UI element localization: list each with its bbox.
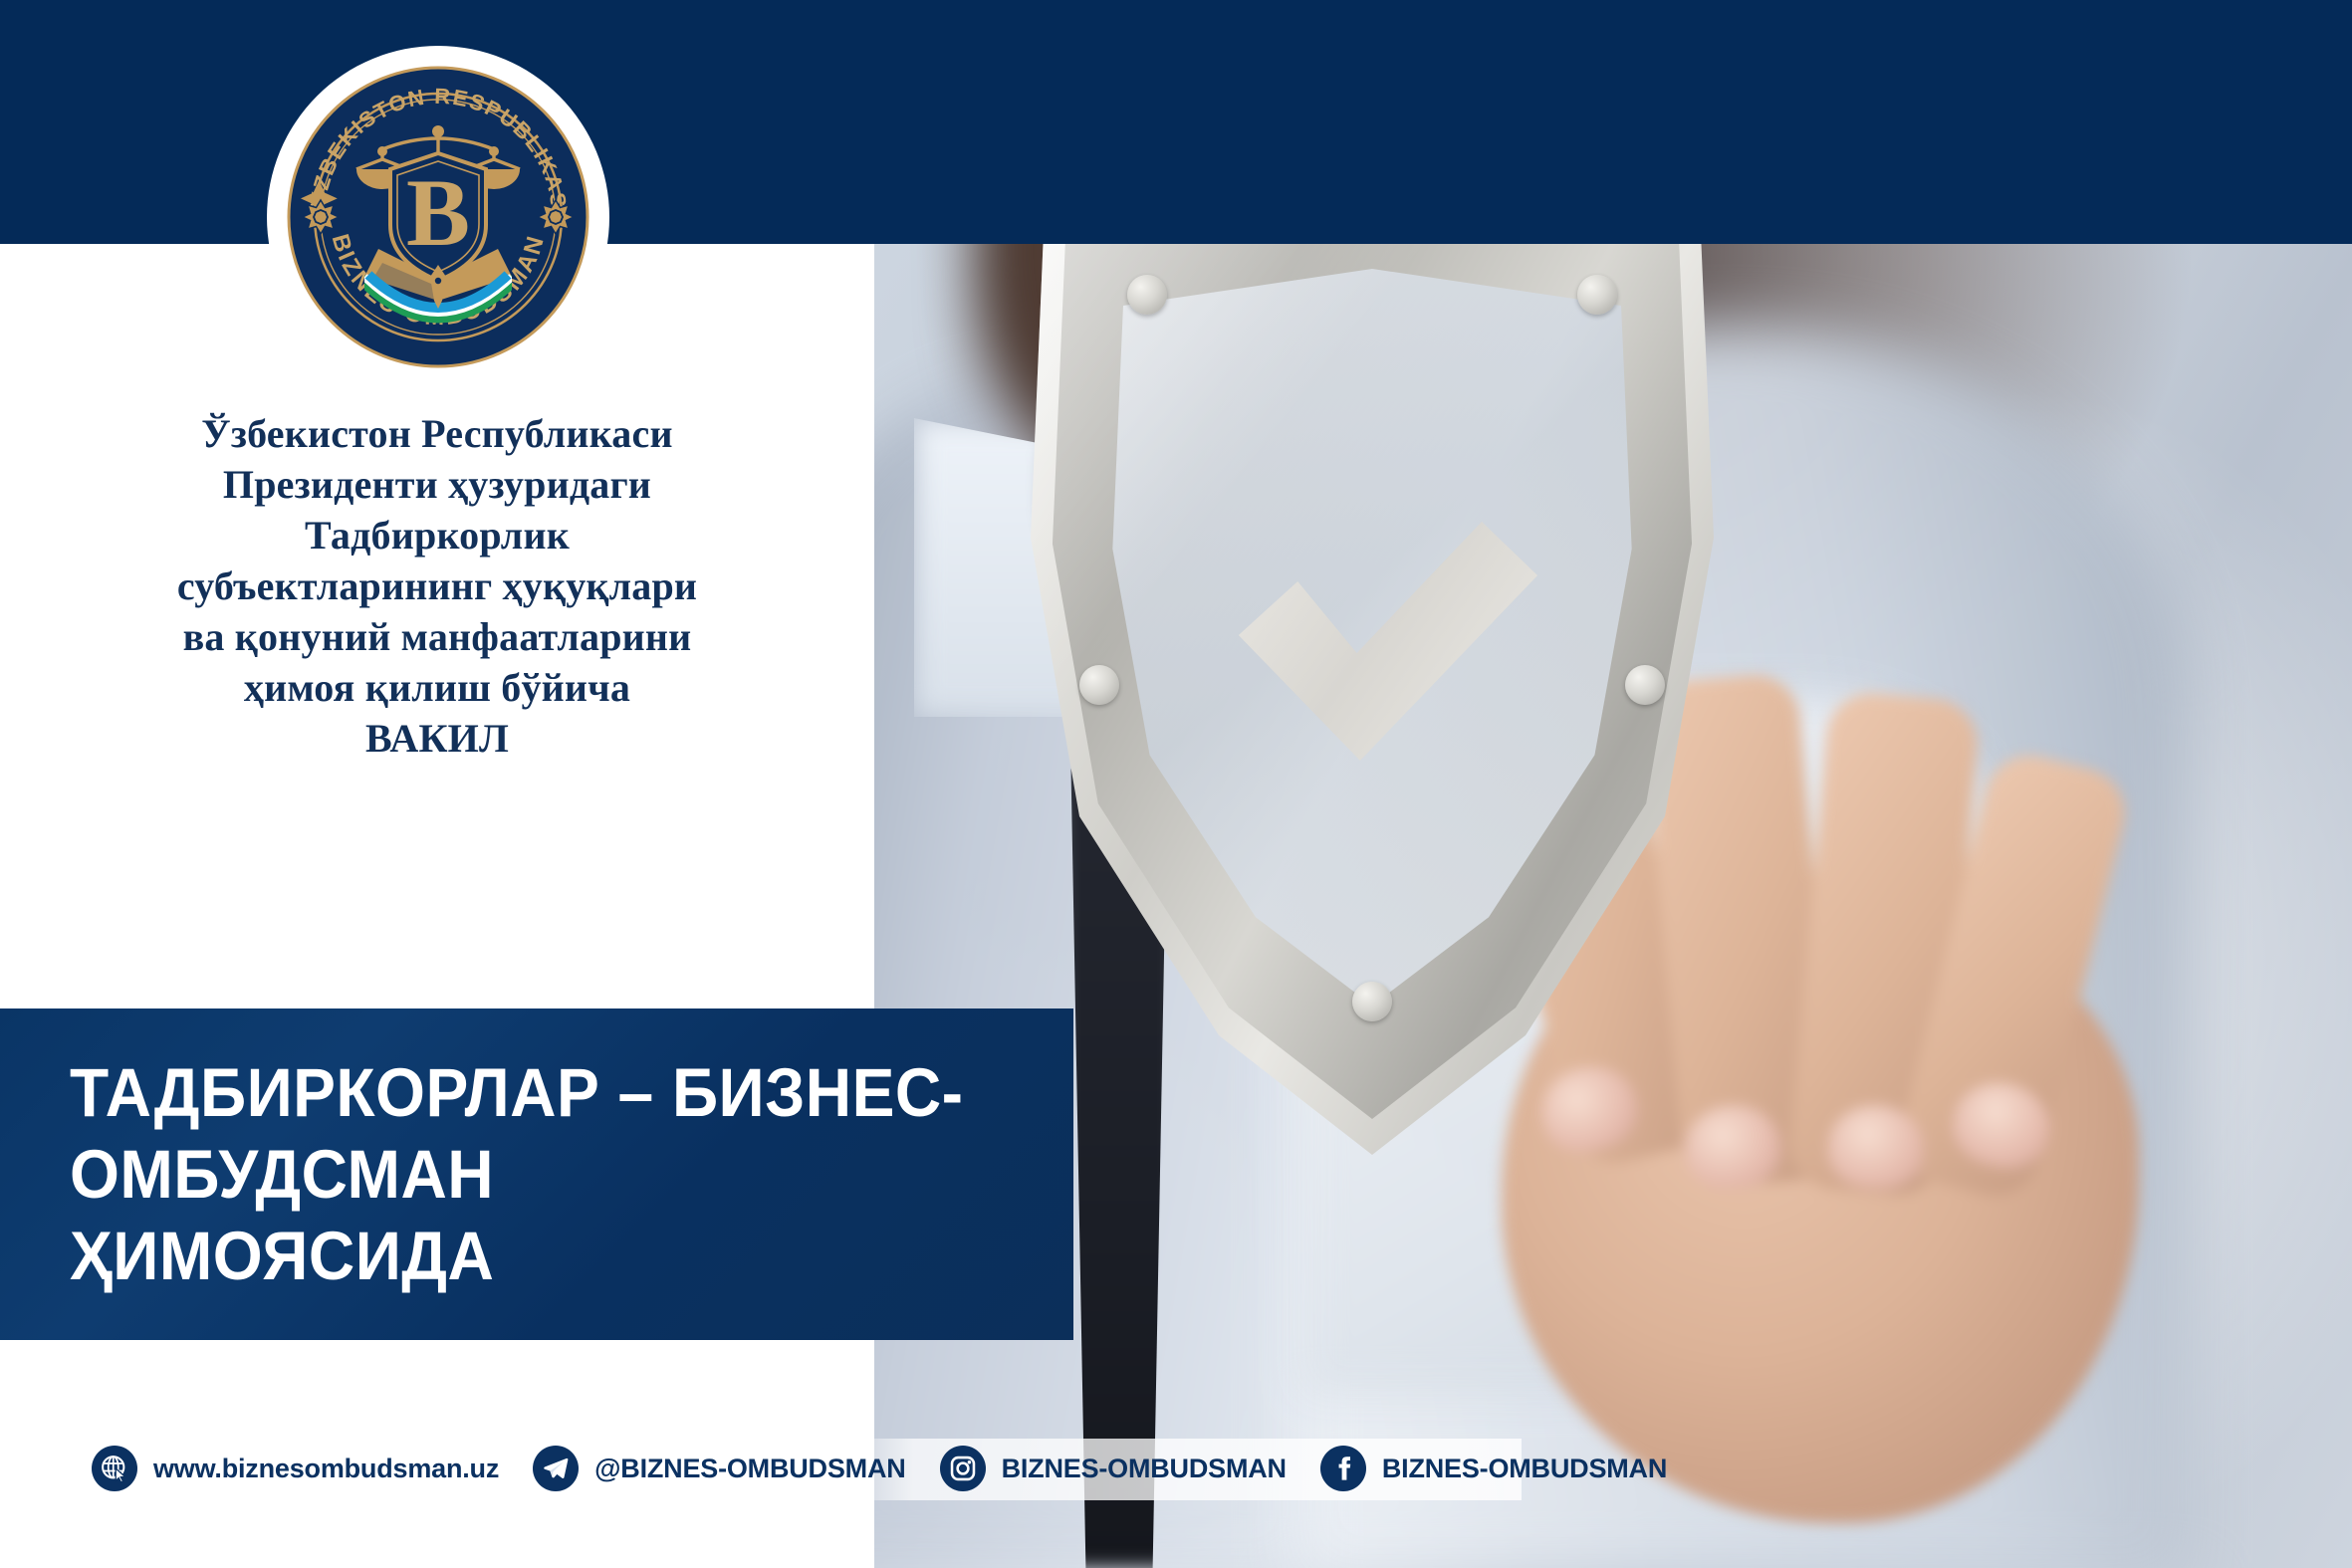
org-title-line: Тадбиркорлик xyxy=(48,510,826,560)
org-title-line: ҳимоя қилиш бўйича xyxy=(48,662,826,713)
footer-item-facebook[interactable]: BIZNES-OMBUDSMAN xyxy=(1320,1446,1667,1491)
shield-with-checkmark-icon xyxy=(1024,159,1721,1155)
headline-text: ТАДБИРКОРЛАР – БИЗНЕС-ОМБУДСМАН ҲИМОЯСИД… xyxy=(70,1052,1003,1297)
footer-item-telegram[interactable]: @BIZNES-OMBUDSMAN xyxy=(533,1446,905,1491)
headline-line-2: ҲИМОЯСИДА xyxy=(70,1216,1003,1297)
shield-rivet xyxy=(1625,665,1665,705)
emblem-monogram: B xyxy=(406,159,470,266)
shield-icon: B xyxy=(390,153,486,281)
shield-rivet xyxy=(1577,275,1617,315)
footer-label-facebook: BIZNES-OMBUDSMAN xyxy=(1382,1454,1667,1484)
org-title-line: ва қонуний манфаатларини xyxy=(48,611,826,662)
org-title-line: субъектларининг ҳуқуқлари xyxy=(48,560,826,611)
footer-item-website[interactable]: www.biznesombudsman.uz xyxy=(92,1446,499,1491)
headline-banner: ТАДБИРКОРЛАР – БИЗНЕС-ОМБУДСМАН ҲИМОЯСИД… xyxy=(0,1008,1073,1340)
org-title-line: Ўзбекистон Республикаси xyxy=(48,408,826,459)
headline-line-1: ТАДБИРКОРЛАР – БИЗНЕС-ОМБУДСМАН xyxy=(70,1052,1003,1216)
shield-rivet xyxy=(1079,665,1119,705)
footer-label-telegram: @BIZNES-OMBUDSMAN xyxy=(594,1454,905,1484)
org-title-line: Президенти ҳузуридаги xyxy=(48,459,826,510)
footer-label-instagram: BIZNES-OMBUDSMAN xyxy=(1002,1454,1287,1484)
instagram-icon xyxy=(940,1446,986,1491)
shield-rivet xyxy=(1127,275,1167,315)
globe-cursor-icon xyxy=(92,1446,137,1491)
organization-emblem: O‘ZBEKISTON RESPUBLIKASI BIZNES-OMBUDSMA… xyxy=(287,66,589,368)
footer-item-instagram[interactable]: BIZNES-OMBUDSMAN xyxy=(940,1446,1287,1491)
org-title-line: ВАКИЛ xyxy=(48,713,826,764)
poster-root: O‘ZBEKISTON RESPUBLIKASI BIZNES-OMBUDSMA… xyxy=(0,0,2352,1568)
shield-rivet xyxy=(1352,982,1392,1021)
organization-title-block: Ўзбекистон Республикаси Президенти ҳузур… xyxy=(48,408,826,764)
footer-label-website: www.biznesombudsman.uz xyxy=(153,1454,499,1484)
eight-point-star-icon xyxy=(538,200,574,234)
eight-point-star-icon xyxy=(303,200,339,234)
facebook-icon xyxy=(1320,1446,1366,1491)
footer-social-bar: www.biznesombudsman.uz @BIZNES-OMBUDSMAN… xyxy=(0,1398,1522,1539)
telegram-icon xyxy=(533,1446,579,1491)
